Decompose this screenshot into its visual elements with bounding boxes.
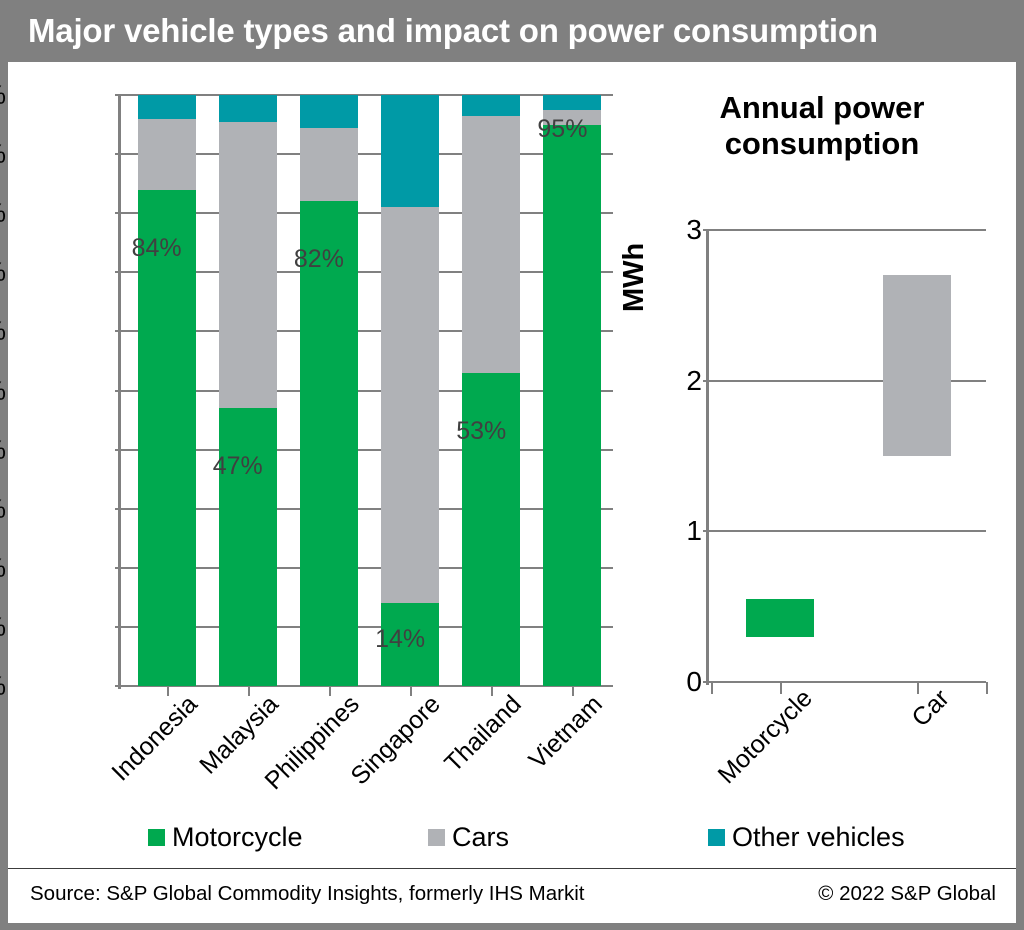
y-tick-label: 40% (0, 434, 6, 465)
y-tick-label: 60% (0, 316, 6, 347)
legend-swatch-icon (148, 829, 165, 846)
y-tick-label: 0 (686, 666, 702, 698)
left-x-tick-labels: IndonesiaMalaysiaPhilippinesSingaporeTha… (126, 690, 613, 810)
y-tick-label: 1 (686, 515, 702, 547)
legend-item[interactable]: Other vehicles (708, 822, 905, 853)
right-y-tick-labels: 0123 (628, 230, 1016, 682)
page-title: Major vehicle types and impact on power … (28, 12, 878, 50)
x-axis-end-tick (986, 682, 988, 694)
copyright-note: © 2022 S&P Global (818, 882, 996, 906)
x-tick-label: Car (907, 684, 956, 733)
right-chart-title-line1: Annual power (720, 90, 925, 125)
chart-canvas: 84%47%82%14%53%95% 0%10%20%30%40%50%60%7… (8, 62, 1016, 868)
y-tick-label: 0% (0, 671, 6, 702)
y-tick-label: 80% (0, 198, 6, 229)
legend-item[interactable]: Motorcycle (148, 822, 303, 853)
legend-swatch-icon (708, 829, 725, 846)
legend-item[interactable]: Cars (428, 822, 509, 853)
x-tick-label: Indonesia (106, 690, 203, 787)
y-tick-label: 2 (686, 365, 702, 397)
y-tick-label: 100% (0, 80, 6, 111)
y-tick-label: 20% (0, 552, 6, 583)
right-chart-title-line2: consumption (725, 126, 920, 161)
left-y-tick-labels: 0%10%20%30%40%50%60%70%80%90%100% (8, 95, 628, 686)
y-tick-label: 10% (0, 611, 6, 642)
x-tick-label: Vietnam (524, 690, 609, 775)
right-x-tick-labels: MotorcycleCar (711, 684, 986, 814)
x-tick-label: Motorcycle (712, 684, 818, 790)
y-tick-label: 50% (0, 375, 6, 406)
annual-power-consumption-chart: Annual power consumption MWh 0123 Motorc… (628, 62, 1016, 868)
y-tick-label: 90% (0, 139, 6, 170)
chart-figure: Major vehicle types and impact on power … (0, 0, 1024, 930)
vehicle-mix-chart: 84%47%82%14%53%95% 0%10%20%30%40%50%60%7… (8, 62, 628, 868)
legend-label: Other vehicles (732, 822, 905, 853)
y-tick-label: 70% (0, 257, 6, 288)
y-tick-label: 3 (686, 214, 702, 246)
y-tick-label: 30% (0, 493, 6, 524)
title-bar: Major vehicle types and impact on power … (0, 0, 1024, 62)
legend: MotorcycleCarsOther vehicles (8, 822, 1016, 864)
legend-label: Motorcycle (172, 822, 303, 853)
x-tick-label: Thailand (439, 690, 527, 778)
footer: Source: S&P Global Commodity Insights, f… (8, 868, 1016, 923)
source-note: Source: S&P Global Commodity Insights, f… (30, 882, 584, 906)
legend-label: Cars (452, 822, 509, 853)
right-chart-title: Annual power consumption (628, 90, 1016, 162)
legend-swatch-icon (428, 829, 445, 846)
